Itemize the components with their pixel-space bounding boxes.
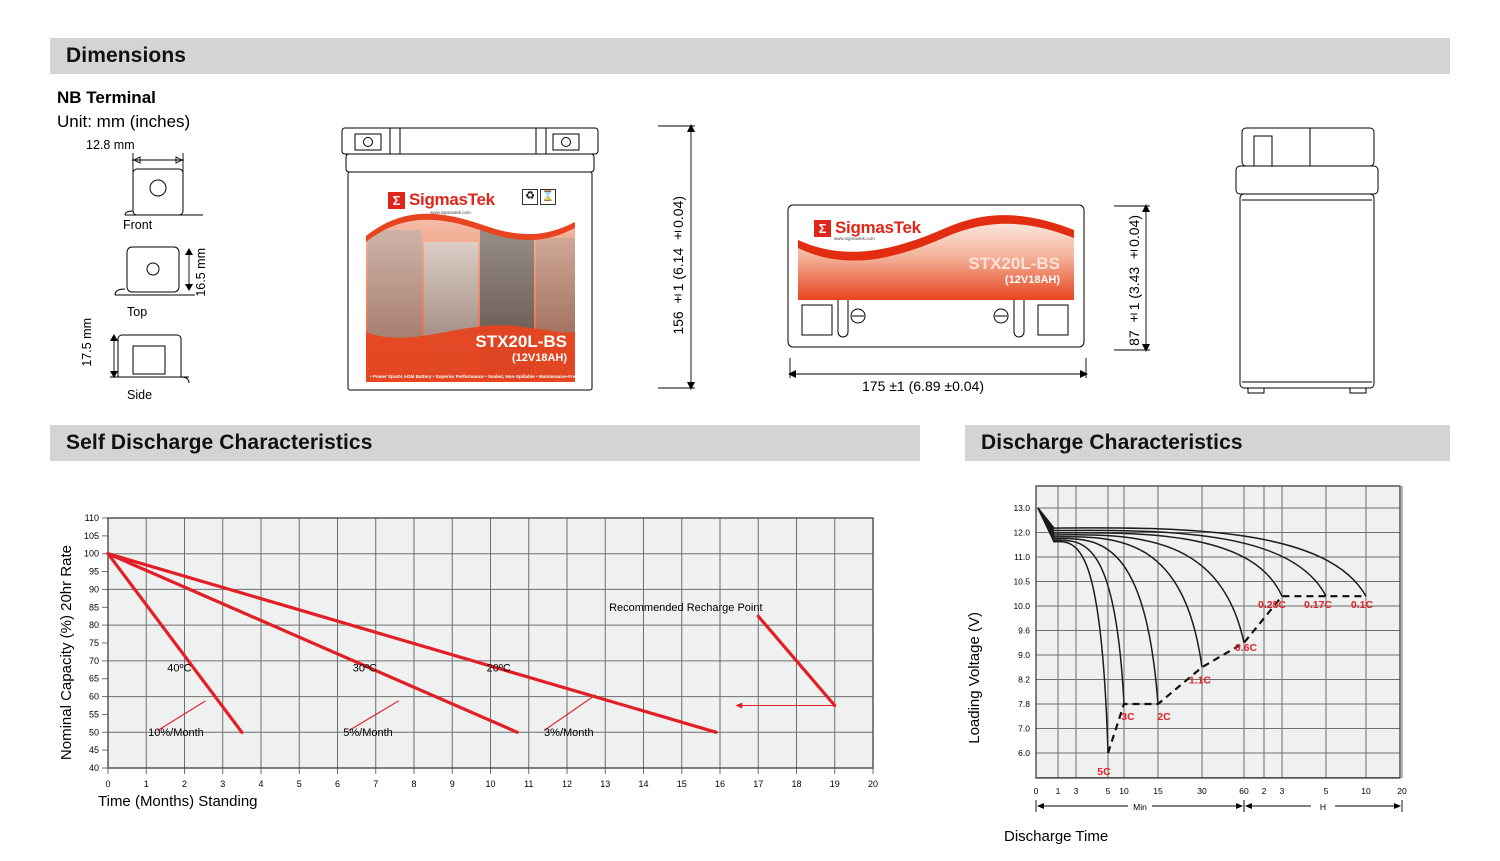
svg-text:10: 10 — [1119, 786, 1129, 796]
svg-text:105: 105 — [84, 531, 99, 541]
svg-text:3: 3 — [220, 779, 225, 789]
svg-text:10: 10 — [1361, 786, 1371, 796]
terminal-view-side-label: Side — [127, 388, 152, 402]
svg-text:5C: 5C — [1097, 766, 1111, 778]
terminal-side-view — [110, 334, 189, 383]
svg-text:16: 16 — [715, 779, 725, 789]
svg-text:80: 80 — [89, 620, 99, 630]
terminal-view-top-label: Top — [127, 305, 147, 319]
battery-website: www.sigmastek.com — [406, 210, 495, 215]
discharge-chart: 13.012.011.010.510.09.69.08.27.87.06.001… — [988, 478, 1408, 848]
svg-text:5: 5 — [1106, 786, 1111, 796]
self-discharge-chart: 4045505560657075808590951001051100123456… — [78, 510, 878, 800]
svg-text:5%/Month: 5%/Month — [343, 727, 393, 739]
svg-text:1: 1 — [1056, 786, 1061, 796]
svg-text:2: 2 — [182, 779, 187, 789]
svg-text:18: 18 — [791, 779, 801, 789]
svg-text:0: 0 — [105, 779, 110, 789]
svg-text:0: 0 — [1034, 786, 1039, 796]
svg-text:6.0: 6.0 — [1018, 748, 1030, 758]
svg-text:10%/Month: 10%/Month — [148, 727, 204, 739]
svg-text:40: 40 — [89, 763, 99, 773]
svg-text:8: 8 — [411, 779, 416, 789]
battery-front-model: STX20L-BS — [475, 332, 567, 352]
sigma-logo-icon: Σ — [388, 192, 405, 209]
svg-text:0.17C: 0.17C — [1304, 599, 1332, 611]
battery-end-view — [1232, 126, 1392, 396]
svg-text:0.6C: 0.6C — [1235, 642, 1258, 654]
svg-text:9.0: 9.0 — [1018, 650, 1030, 660]
sigma-logo-icon-side: Σ — [814, 220, 831, 237]
svg-text:110: 110 — [85, 513, 99, 523]
svg-text:4: 4 — [258, 779, 263, 789]
terminal-depth-label: 16.5 mm — [194, 248, 208, 297]
svg-text:15: 15 — [1153, 786, 1163, 796]
svg-text:3: 3 — [1280, 786, 1285, 796]
battery-side-label: Σ SigmasTek www.sigmastek.com STX20L-BS … — [798, 212, 1074, 300]
svg-text:60: 60 — [89, 692, 99, 702]
svg-text:70: 70 — [89, 656, 99, 666]
svg-text:9: 9 — [450, 779, 455, 789]
svg-text:30ºC: 30ºC — [353, 663, 377, 675]
svg-text:5: 5 — [297, 779, 302, 789]
terminal-top-view — [115, 247, 195, 295]
discharge-section-header: Discharge Characteristics — [965, 425, 1450, 461]
svg-text:2C: 2C — [1157, 711, 1171, 723]
battery-side-brand-name: SigmasTek — [835, 218, 921, 238]
nb-terminal-heading: NB Terminal — [57, 88, 156, 108]
svg-text:100: 100 — [84, 549, 99, 559]
svg-text:20ºC: 20ºC — [487, 663, 511, 675]
svg-text:12.0: 12.0 — [1013, 528, 1030, 538]
svg-text:0.1C: 0.1C — [1351, 599, 1374, 611]
svg-text:H: H — [1320, 802, 1326, 812]
battery-front-label: Σ SigmasTek www.sigmastek.com ♻ ⌛ STX20L… — [366, 182, 575, 382]
svg-text:19: 19 — [830, 779, 840, 789]
battery-side-model: STX20L-BS — [968, 254, 1060, 274]
svg-text:95: 95 — [89, 567, 99, 577]
svg-text:8.2: 8.2 — [1018, 675, 1030, 685]
discharge-title: Discharge Characteristics — [965, 431, 1243, 455]
battery-front-spec: (12V18AH) — [512, 352, 567, 364]
svg-text:50: 50 — [89, 727, 99, 737]
battery-side-height-label: 87 ±1 (3.43 ±0.04) — [1126, 215, 1142, 346]
svg-text:2: 2 — [1262, 786, 1267, 796]
dimensions-section-header: Dimensions — [50, 38, 1450, 74]
svg-text:13.0: 13.0 — [1013, 503, 1030, 513]
svg-text:9.6: 9.6 — [1018, 626, 1030, 636]
svg-text:6: 6 — [335, 779, 340, 789]
svg-text:85: 85 — [89, 602, 99, 612]
svg-text:10.5: 10.5 — [1013, 577, 1030, 587]
discharge-xlabel: Discharge Time — [1004, 828, 1108, 845]
svg-text:10: 10 — [485, 779, 495, 789]
svg-text:14: 14 — [638, 779, 648, 789]
svg-text:45: 45 — [89, 745, 99, 755]
svg-text:17: 17 — [753, 779, 763, 789]
svg-text:20: 20 — [1397, 786, 1407, 796]
svg-text:7.8: 7.8 — [1018, 699, 1030, 709]
svg-text:1.1C: 1.1C — [1189, 674, 1212, 686]
svg-text:0.25C: 0.25C — [1258, 599, 1286, 611]
terminal-view-front-label: Front — [123, 218, 152, 232]
svg-text:20: 20 — [868, 779, 878, 789]
battery-front-tagline: • Power Sports AGM Battery • Superior Pe… — [370, 374, 575, 379]
recycle-icon: ♻ — [522, 189, 538, 205]
unit-note: Unit: mm (inches) — [57, 112, 190, 132]
svg-text:Recommended Recharge Point: Recommended Recharge Point — [609, 602, 762, 614]
terminal-height-label: 17.5 mm — [80, 318, 94, 367]
svg-text:7: 7 — [373, 779, 378, 789]
svg-text:3%/Month: 3%/Month — [544, 727, 594, 739]
svg-text:75: 75 — [89, 638, 99, 648]
discharge-ylabel: Loading Voltage (V) — [966, 612, 983, 744]
weee-bin-icon: ⌛ — [540, 189, 556, 205]
self-discharge-ylabel: Nominal Capacity (%) 20hr Rate — [58, 545, 75, 760]
dimensions-title: Dimensions — [50, 44, 186, 68]
svg-text:Min: Min — [1133, 802, 1147, 812]
svg-text:7.0: 7.0 — [1018, 724, 1030, 734]
svg-text:3: 3 — [1074, 786, 1079, 796]
svg-text:65: 65 — [89, 674, 99, 684]
self-discharge-xlabel: Time (Months) Standing — [98, 793, 258, 810]
self-discharge-title: Self Discharge Characteristics — [50, 431, 372, 455]
battery-front-height-label: 156 ±1 (6.14 ±0.04) — [670, 196, 686, 335]
svg-text:13: 13 — [600, 779, 610, 789]
svg-text:30: 30 — [1197, 786, 1207, 796]
svg-text:12: 12 — [562, 779, 572, 789]
svg-text:3C: 3C — [1121, 711, 1135, 723]
battery-side-spec: (12V18AH) — [1005, 274, 1060, 286]
self-discharge-section-header: Self Discharge Characteristics — [50, 425, 920, 461]
terminal-front-view — [125, 153, 203, 215]
battery-front-brand-block: Σ SigmasTek www.sigmastek.com — [388, 190, 495, 215]
svg-text:40ºC: 40ºC — [167, 663, 191, 675]
svg-text:55: 55 — [89, 709, 99, 719]
svg-text:10.0: 10.0 — [1013, 601, 1030, 611]
svg-text:1: 1 — [144, 779, 149, 789]
svg-text:5: 5 — [1324, 786, 1329, 796]
svg-text:90: 90 — [89, 584, 99, 594]
terminal-width-label: 12.8 mm — [86, 138, 135, 152]
battery-side-website: www.sigmastek.com — [834, 236, 875, 241]
battery-brand-name: SigmasTek — [409, 190, 495, 210]
svg-text:11: 11 — [524, 779, 533, 789]
svg-text:11.0: 11.0 — [1014, 552, 1030, 562]
svg-text:60: 60 — [1239, 786, 1249, 796]
battery-side-width-label: 175 ±1 (6.89 ±0.04) — [862, 378, 984, 394]
svg-text:15: 15 — [677, 779, 687, 789]
